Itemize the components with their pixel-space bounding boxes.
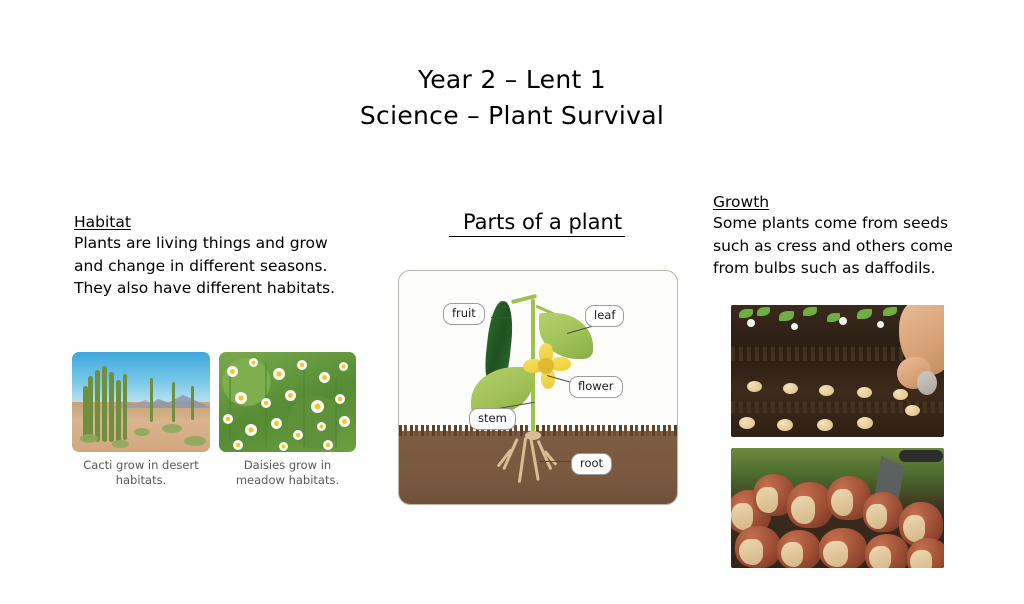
daisy-flower bbox=[235, 392, 247, 404]
daisy-flower bbox=[273, 368, 285, 380]
bulb-tip bbox=[866, 504, 887, 529]
bulb-shape bbox=[863, 492, 903, 532]
parts-of-plant-heading: Parts of a plant bbox=[398, 208, 676, 236]
daisy-flower bbox=[271, 418, 282, 429]
daisy-flower bbox=[233, 440, 243, 450]
trowel-handle-shape bbox=[899, 450, 943, 462]
bulb-shape bbox=[865, 534, 909, 568]
cacti-desert-caption: Cacti grow in desert habitats. bbox=[72, 458, 210, 488]
scrub-bush bbox=[80, 434, 98, 443]
parts-of-plant-heading-text: Parts of a plant bbox=[449, 210, 625, 237]
seeds-in-soil-image bbox=[731, 305, 944, 437]
daisy-flower bbox=[319, 372, 330, 383]
bulb-shape bbox=[787, 482, 833, 528]
daisy-flower bbox=[339, 362, 348, 371]
seed-shape bbox=[739, 417, 755, 429]
scrub-bush bbox=[162, 424, 182, 433]
label-root[interactable]: root bbox=[571, 453, 612, 475]
title-line-1: Year 2 – Lent 1 bbox=[0, 62, 1024, 98]
scrub-bush bbox=[112, 440, 129, 448]
cactus-shape bbox=[102, 366, 107, 442]
cactus-shape bbox=[123, 374, 127, 440]
cactus-shape bbox=[95, 370, 100, 442]
bulb-shape bbox=[819, 528, 867, 568]
grass-blade bbox=[335, 378, 337, 448]
fingernail-shape bbox=[917, 371, 937, 395]
seedling-flower bbox=[791, 323, 798, 330]
habitat-heading: Habitat bbox=[74, 212, 131, 232]
bulb-tip bbox=[831, 489, 854, 516]
cactus-shape bbox=[109, 372, 114, 442]
seed-shape bbox=[747, 381, 762, 392]
bulb-tip bbox=[823, 541, 848, 567]
bulb-shape bbox=[907, 538, 944, 568]
daisy-flower bbox=[227, 366, 238, 377]
bulb-shape bbox=[777, 530, 821, 568]
cactus-shape bbox=[191, 386, 194, 420]
seed-shape bbox=[819, 385, 834, 396]
bulb-shape bbox=[735, 526, 781, 568]
seed-shape bbox=[817, 419, 833, 431]
bulb-tip bbox=[739, 539, 763, 565]
flower-bulbs-photo bbox=[731, 448, 944, 568]
label-fruit[interactable]: fruit bbox=[443, 303, 485, 325]
daisies-meadow-caption: Daisies grow in meadow habitats. bbox=[219, 458, 356, 488]
seedling-flower bbox=[747, 319, 755, 327]
plant-parts-diagram: fruit leaf flower stem root bbox=[398, 270, 678, 505]
daisy-flower bbox=[261, 398, 271, 408]
bulb-tip bbox=[910, 550, 932, 568]
daisy-flower bbox=[335, 394, 345, 404]
daisy-flower bbox=[293, 430, 303, 440]
growth-body-text: Some plants come from seeds such as cres… bbox=[713, 212, 961, 280]
bulb-tip bbox=[791, 496, 815, 525]
daisy-flower bbox=[223, 414, 233, 424]
daisy-flower bbox=[339, 416, 350, 427]
root-shape bbox=[525, 431, 541, 440]
seed-shape bbox=[857, 387, 872, 398]
daisy-flower bbox=[285, 390, 296, 401]
cacti-desert-image bbox=[72, 352, 210, 452]
seed-shape bbox=[893, 389, 908, 400]
label-stem[interactable]: stem bbox=[469, 408, 516, 430]
daisy-flower bbox=[311, 400, 324, 413]
daisy-flower bbox=[249, 358, 258, 367]
seedling-flower bbox=[877, 321, 884, 328]
cactus-shape bbox=[172, 382, 175, 422]
daisy-flower bbox=[317, 422, 326, 431]
seed-shape bbox=[905, 405, 920, 416]
daisy-flower bbox=[279, 442, 288, 451]
flower-center bbox=[538, 358, 554, 374]
daisy-flower bbox=[323, 440, 333, 450]
seedling-flower bbox=[839, 317, 847, 325]
daisy-flower bbox=[245, 424, 257, 436]
seed-shape bbox=[777, 419, 793, 431]
seeds-in-soil-photo bbox=[731, 305, 944, 437]
cacti-desert-photo bbox=[72, 352, 210, 452]
daisies-meadow-image bbox=[219, 352, 356, 452]
label-leaf[interactable]: leaf bbox=[585, 305, 624, 327]
label-flower[interactable]: flower bbox=[569, 376, 623, 398]
title-line-2: Science – Plant Survival bbox=[0, 98, 1024, 134]
fruit-leader-line bbox=[491, 317, 511, 318]
seed-shape bbox=[783, 383, 798, 394]
bulb-tip bbox=[756, 487, 778, 513]
bulb-tip bbox=[781, 542, 804, 567]
flower-bulbs-image bbox=[731, 448, 944, 568]
cactus-shape bbox=[88, 376, 93, 442]
seed-shape bbox=[857, 417, 873, 429]
page-title: Year 2 – Lent 1 Science – Plant Survival bbox=[0, 62, 1024, 134]
cactus-shape bbox=[116, 380, 121, 442]
bulb-tip bbox=[869, 546, 892, 568]
daisy-flower bbox=[297, 360, 307, 370]
flower-shape bbox=[525, 345, 567, 387]
scrub-bush bbox=[134, 428, 150, 436]
grass-blade bbox=[229, 372, 231, 442]
daisies-meadow-photo bbox=[219, 352, 356, 452]
scrub-bush bbox=[184, 436, 206, 446]
growth-heading: Growth bbox=[713, 192, 769, 212]
habitat-body-text: Plants are living things and grow and ch… bbox=[74, 232, 336, 300]
flower-petal bbox=[551, 357, 571, 371]
cactus-shape bbox=[150, 378, 153, 422]
grass-blade bbox=[303, 370, 305, 448]
